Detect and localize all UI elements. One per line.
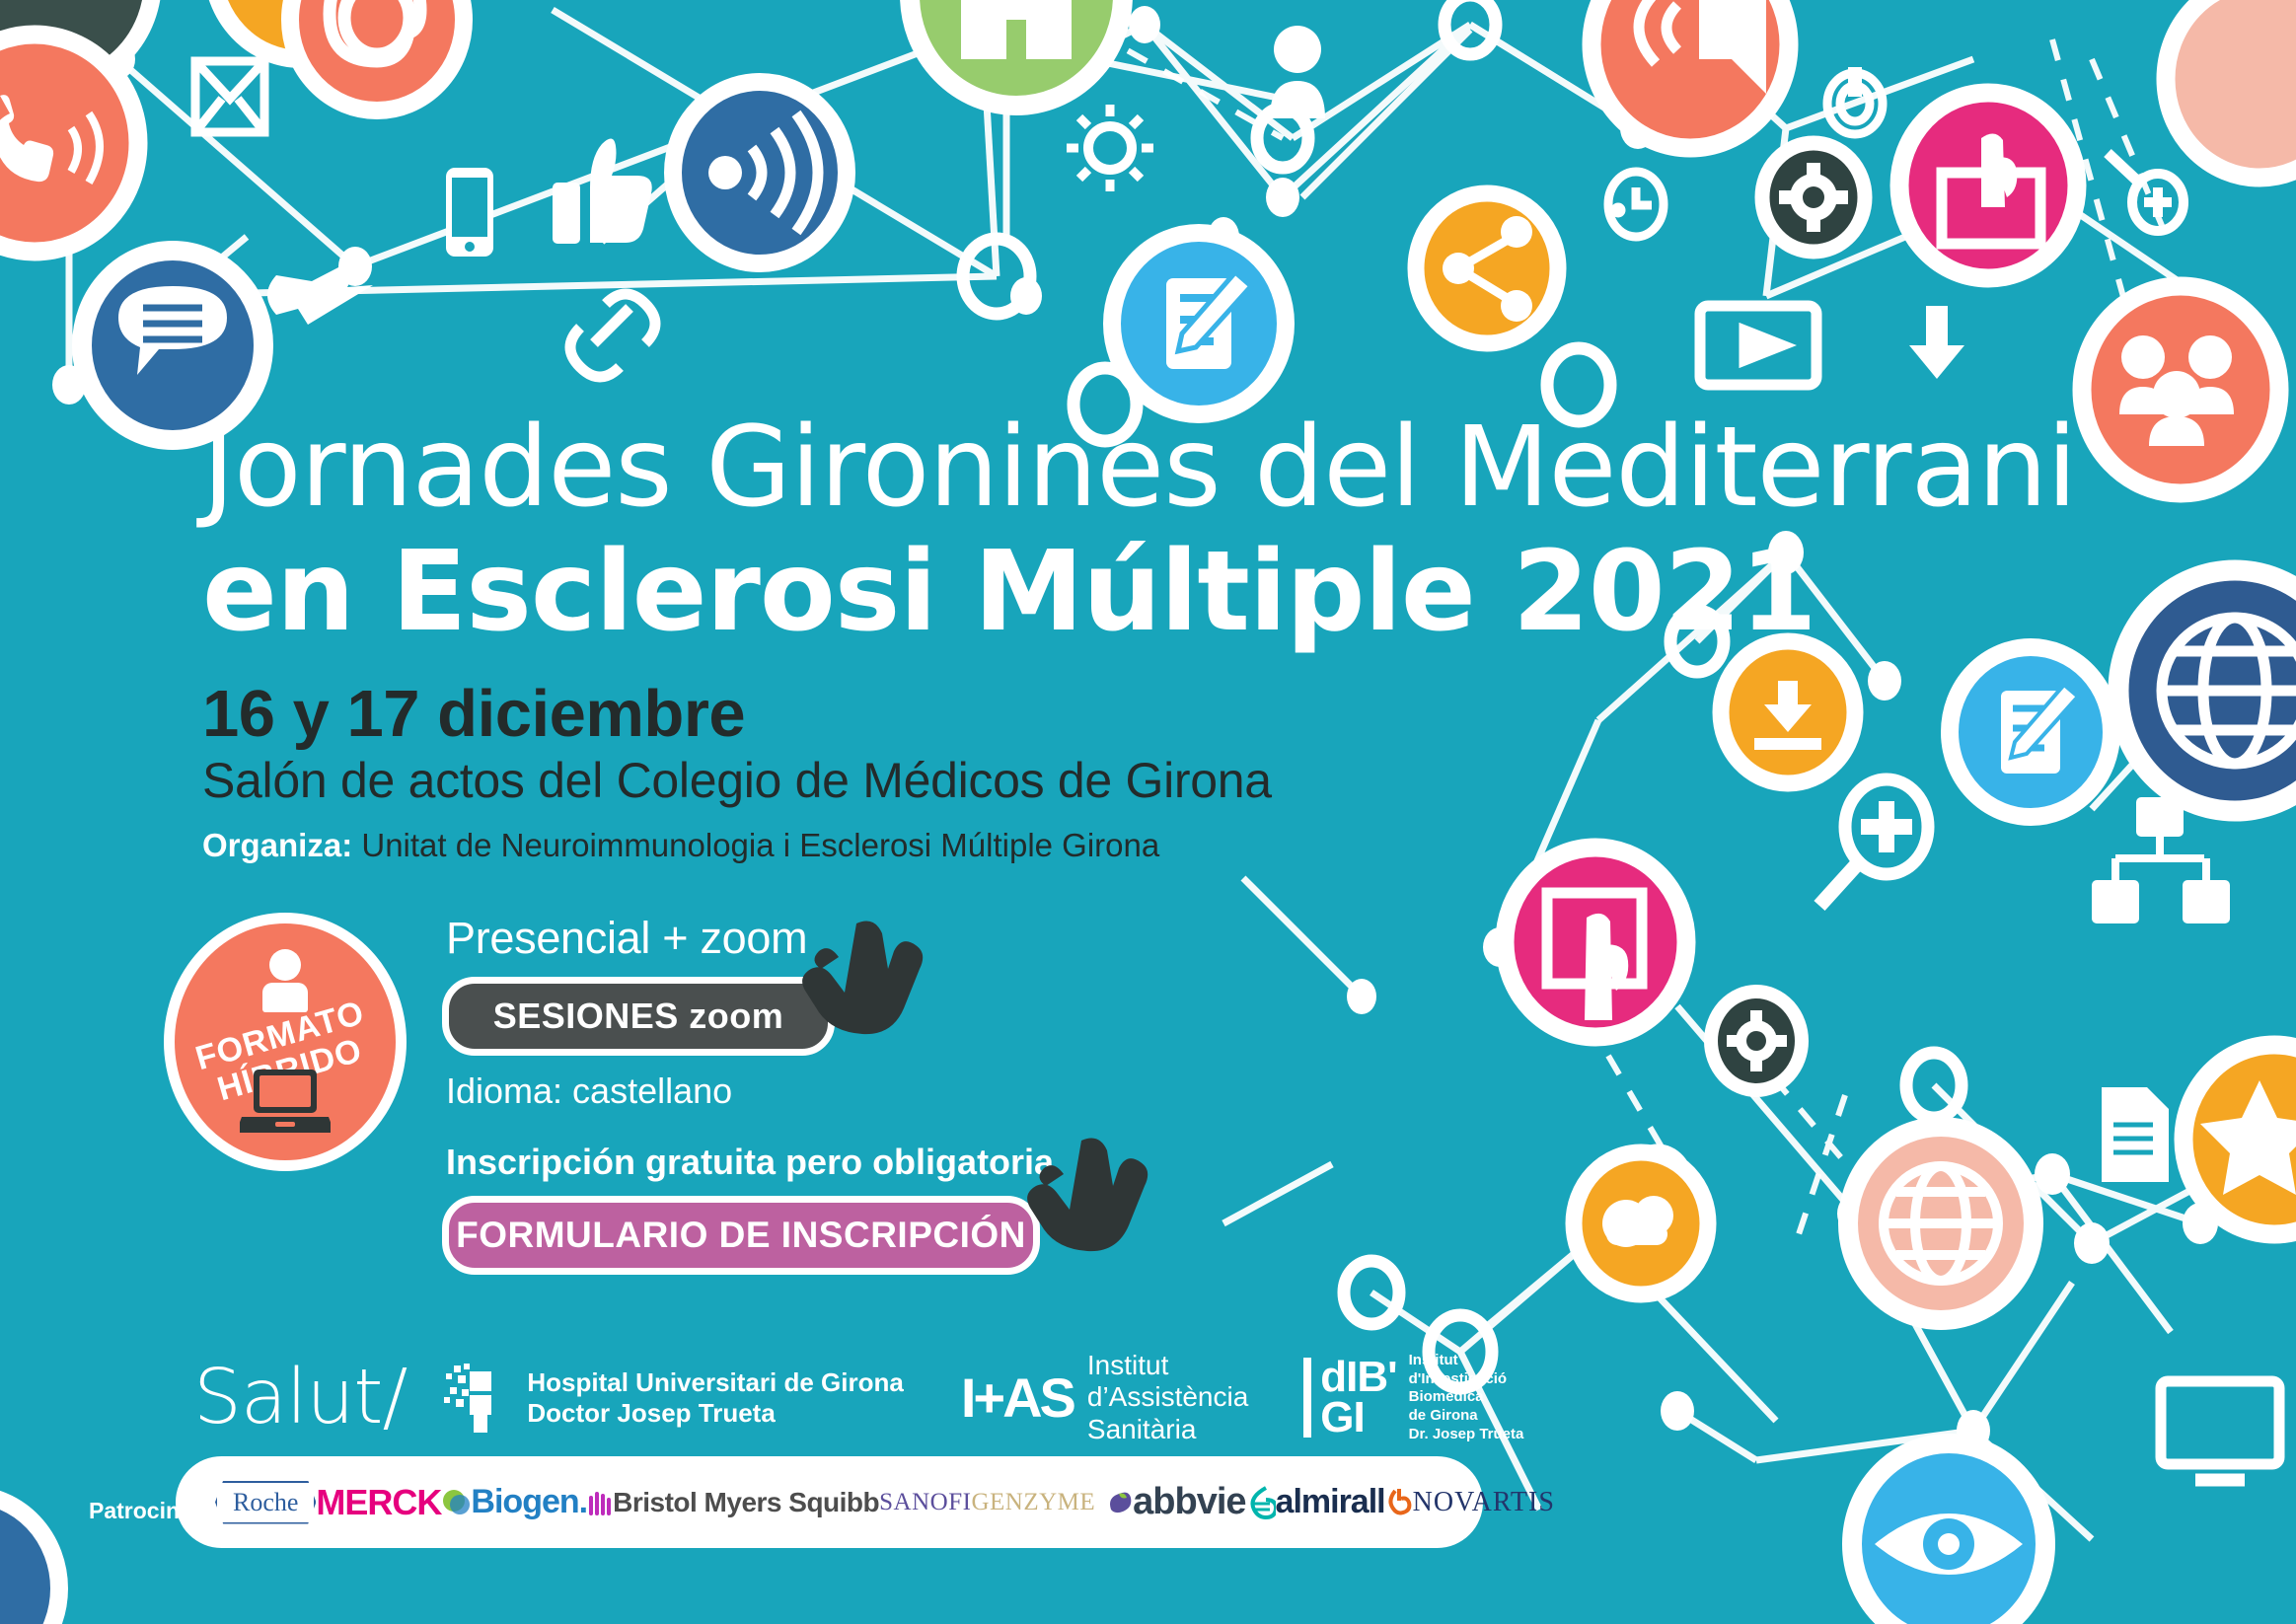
pointer-hand-icon — [801, 918, 929, 1036]
ias-logo: I+AS Institut d’Assistència Sanitària — [961, 1350, 1248, 1445]
idibgi-text: Institut d'Investigació Biomèdica de Gir… — [1409, 1352, 1524, 1444]
ias-text: Institut d’Assistència Sanitària — [1087, 1350, 1248, 1445]
user-icon — [262, 949, 308, 1010]
sponsor-roche: Roche — [215, 1481, 316, 1524]
sponsor-bristol-myers-squibb: Bristol Myers Squibb — [587, 1487, 879, 1518]
laptop-icon — [240, 1068, 331, 1139]
sponsor-almirall: almirall — [1246, 1483, 1385, 1521]
sponsor-merck: MERCK — [316, 1482, 441, 1523]
hospital-line-2: Doctor Josep Trueta — [527, 1398, 903, 1429]
hospital-line-1: Hospital Universitari de Girona — [527, 1367, 903, 1398]
ias-line-3: Sanitària — [1087, 1414, 1248, 1445]
sponsor-sanofi-genzyme: SANOFI GENZYME — [879, 1488, 1133, 1517]
idibgi-line-5: Dr. Josep Trueta — [1409, 1426, 1524, 1444]
salut-logo: Salut/ — [193, 1360, 407, 1436]
language-note: Idioma: castellano — [446, 1070, 732, 1112]
biogen-mark-icon — [441, 1488, 471, 1517]
hospital-trueta-text: Hospital Universitari de Girona Doctor J… — [527, 1367, 903, 1428]
poster-root: Jornades Gironines del Mediterrani en Es… — [0, 0, 2296, 1624]
organizer-value: Unitat de Neuroimmunologia i Esclerosi M… — [352, 827, 1159, 863]
bms-mark-icon — [587, 1488, 613, 1517]
title-line-1: Jornades Gironines del Mediterrani — [202, 412, 2076, 523]
idibgi-line-2: d'Investigació — [1409, 1370, 1524, 1389]
hospital-trueta-logo: Hospital Universitari de Girona Doctor J… — [440, 1362, 903, 1435]
page-title: Jornades Gironines del Mediterrani en Es… — [202, 412, 2076, 651]
idibgi-logo: dIB' GI Institut d'Investigació Biomèdic… — [1303, 1352, 1523, 1444]
idibgi-line-3: Biomèdica — [1409, 1388, 1524, 1407]
idibgi-mark-line-1: dIB' — [1320, 1358, 1396, 1397]
event-venue: Salón de actos del Colegio de Médicos de… — [202, 752, 1272, 809]
sesiones-zoom-button[interactable]: SESIONES zoom — [442, 977, 835, 1056]
attendance-mode: Presencial + zoom — [446, 913, 807, 964]
idibgi-line-4: de Girona — [1409, 1407, 1524, 1426]
institutional-logos: Salut/ Hospital Universitari de Girona — [193, 1350, 1523, 1445]
ias-line-1: Institut — [1087, 1350, 1248, 1381]
sponsor-bar: Roche MERCK Biogen. Bristol Myers Squibb — [176, 1456, 1483, 1548]
ias-mark: I+AS — [961, 1370, 1074, 1426]
ias-line-2: d’Assistència — [1087, 1381, 1248, 1413]
sponsor-novartis: NOVARTIS — [1385, 1487, 1555, 1518]
organizer-label: Organiza: — [202, 827, 352, 863]
format-badge: FORMATO HÍBRIDO — [164, 913, 407, 1171]
idibgi-mark: dIB' GI — [1303, 1358, 1396, 1438]
sponsor-biogen: Biogen. — [441, 1483, 587, 1521]
almirall-mark-icon — [1246, 1486, 1276, 1519]
novartis-mark-icon — [1385, 1487, 1413, 1518]
title-line-2: en Esclerosi Múltiple 2021 — [202, 535, 2076, 651]
idibgi-line-1: Institut — [1409, 1352, 1524, 1370]
registration-note: Inscripción gratuita pero obligatoria — [446, 1142, 1054, 1183]
organizer-line: Organiza: Unitat de Neuroimmunologia i E… — [202, 827, 1159, 864]
generalitat-mark-icon — [440, 1362, 513, 1435]
sanofi-mark-icon — [1103, 1488, 1133, 1517]
pointer-hand-icon — [1026, 1135, 1154, 1253]
idibgi-mark-line-2: GI — [1320, 1398, 1396, 1438]
formulario-inscripcion-button[interactable]: FORMULARIO DE INSCRIPCIÓN — [442, 1196, 1040, 1275]
sponsor-abbvie: abbvie — [1133, 1481, 1245, 1523]
event-date: 16 y 17 diciembre — [202, 676, 745, 752]
